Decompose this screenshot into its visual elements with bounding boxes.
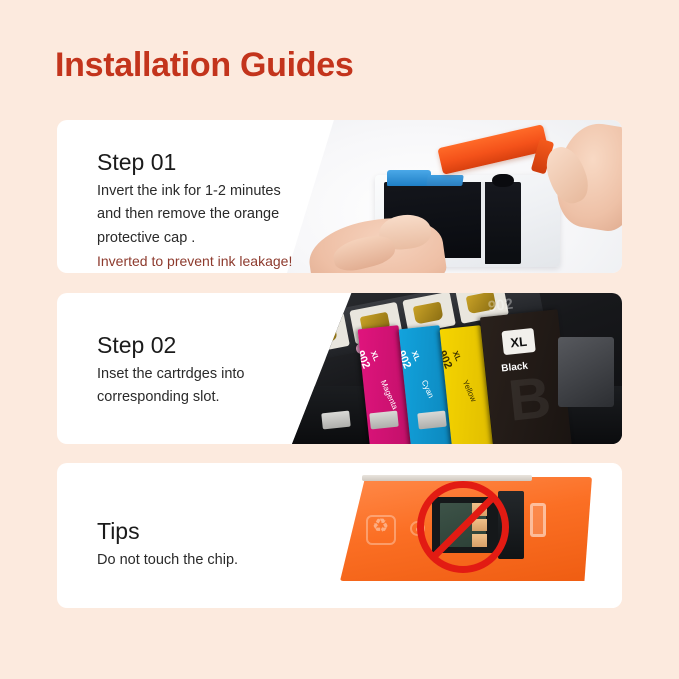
cartridge-yellow-name: Yellow [461, 379, 479, 404]
printer-slot [417, 411, 447, 430]
installation-guides-page: Installation Guides Step 01 [0, 0, 679, 679]
cartridge-ink-port [492, 174, 514, 187]
printer-slot [321, 411, 351, 430]
cartridge-cyan-xl: XL [410, 350, 422, 363]
cartridge-top-edge [362, 475, 532, 481]
step-2-line-2: corresponding slot. [97, 386, 245, 409]
cartridge-clip [530, 503, 546, 537]
cartridge-blue-clip-secondary [426, 175, 464, 186]
cartridge-cyan-name: Cyan [420, 379, 436, 400]
recycle-icon [366, 515, 396, 545]
page-title: Installation Guides [55, 46, 353, 85]
tips-line-1: Do not touch the chip. [97, 549, 238, 572]
step-1-warning-note: Inverted to prevent ink leakage! [97, 250, 292, 273]
photo-insert-cartridges-into-printer: 902 XL Magenta 902 XL Cyan 902 XL Yellow… [292, 293, 622, 444]
printer-carriage-right [558, 337, 614, 407]
tips-card: Tips Do not touch the chip. [57, 463, 622, 608]
cartridge-blue-clip [387, 170, 431, 186]
cartridge-black-body-right [484, 182, 521, 264]
step-1-line-3: protective cap . [97, 227, 292, 250]
cartridge-magenta-name: Magenta [379, 379, 400, 411]
cartridge-magenta-xl: XL [369, 350, 381, 363]
step-1-text-block: Step 01 Invert the ink for 1-2 minutes a… [97, 148, 292, 273]
cartridge-black-xl: XL [501, 328, 535, 355]
printer-slot [369, 411, 399, 430]
photo-do-not-touch-chip [322, 463, 622, 608]
step-card-1: Step 01 Invert the ink for 1-2 minutes a… [57, 120, 622, 273]
ink-drop-icon [296, 312, 350, 355]
tips-heading: Tips [97, 517, 238, 546]
step-1-heading: Step 01 [97, 148, 292, 177]
cartridge-body-gap [481, 182, 485, 264]
cartridge-black-watermark: B [506, 369, 554, 431]
no-entry-icon [417, 481, 509, 573]
cartridge-yellow-xl: XL [451, 350, 463, 363]
step-1-line-2: and then remove the orange [97, 203, 292, 226]
step-1-line-1: Invert the ink for 1-2 minutes [97, 180, 292, 203]
photo-remove-orange-cap [287, 120, 622, 273]
step-card-2: 902 XL Magenta 902 XL Cyan 902 XL Yellow… [57, 293, 622, 444]
cartridge-black-number: 902 [487, 296, 514, 316]
tips-text-block: Tips Do not touch the chip. [97, 517, 238, 572]
step-2-line-1: Inset the cartrdges into [97, 363, 245, 386]
step-2-text-block: Step 02 Inset the cartrdges into corresp… [97, 331, 245, 410]
step-2-heading: Step 02 [97, 331, 245, 360]
